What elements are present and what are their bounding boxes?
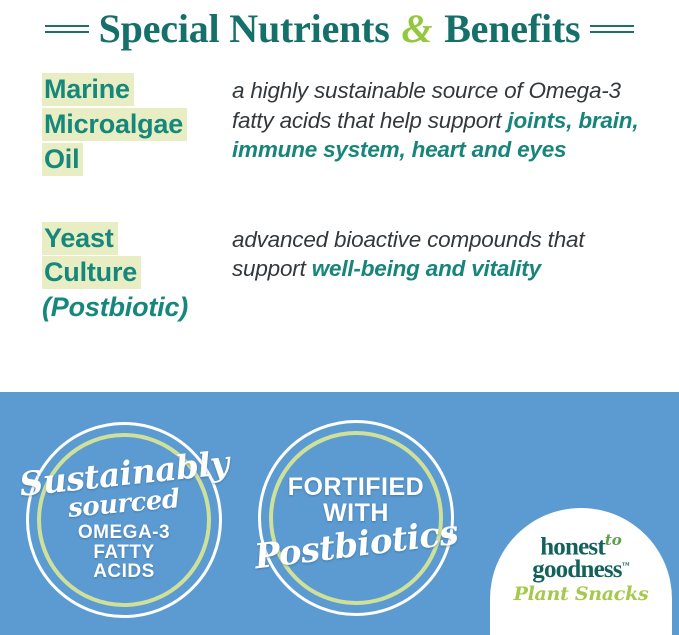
badge-line-4: FATTY — [93, 543, 154, 563]
nutrient-term-highlight: Oil — [42, 143, 83, 176]
nutrient-term-line: Yeast — [42, 223, 232, 255]
badge-panel: Sustainably sourced OMEGA-3 FATTY ACIDS … — [0, 392, 679, 635]
header-rule-left — [45, 24, 89, 35]
page-header: Special Nutrients & Benefits — [0, 0, 679, 58]
nutrient-description-yeast-culture: advanced bioactive compounds that suppor… — [232, 221, 651, 284]
brand-logo-tagline: Plant Snacks — [490, 584, 672, 606]
nutrient-list: Marine Microalgae Oil a highly sustainab… — [0, 72, 679, 327]
brand-logo-line-1: honestto — [490, 534, 672, 558]
brand-trademark-icon: ™ — [622, 561, 630, 570]
badge-text-group: Sustainably sourced OMEGA-3 FATTY ACIDS — [26, 422, 222, 618]
nutrient-term-marine-microalgae-oil: Marine Microalgae Oil — [42, 72, 232, 179]
nutrient-description-emphasis: well-being and vitality — [312, 256, 541, 281]
badge-line-1: FORTIFIED — [288, 474, 424, 500]
nutrient-row-yeast-culture: Yeast Culture (Postbiotic) advanced bioa… — [0, 221, 679, 328]
badge-fortified-with-postbiotics: FORTIFIED WITH Postbiotics — [258, 420, 454, 616]
nutrient-term-line: Marine — [42, 74, 232, 106]
brand-logo-inner: honestto goodness™ Plant Snacks — [490, 534, 672, 606]
nutrient-term-line: Microalgae — [42, 109, 232, 141]
badge-line-5: ACIDS — [93, 562, 155, 582]
header-rule-right — [590, 24, 634, 35]
page-title-ampersand: & — [399, 6, 434, 51]
nutrient-term-highlight: Microalgae — [42, 108, 187, 141]
badge-line-3: Postbiotics — [252, 516, 459, 575]
page-title-part1: Special Nutrients — [99, 6, 400, 51]
badge-text-group: FORTIFIED WITH Postbiotics — [258, 420, 454, 616]
nutrient-term-line: Culture — [42, 257, 232, 289]
brand-logo-line-2: goodness™ — [490, 558, 672, 583]
nutrient-term-highlight: Yeast — [42, 222, 118, 255]
badge-line-2: sourced — [67, 487, 180, 523]
badge-line-3: OMEGA-3 — [78, 523, 170, 543]
nutrient-row-marine-microalgae-oil: Marine Microalgae Oil a highly sustainab… — [0, 72, 679, 179]
nutrient-term-line: Oil — [42, 144, 232, 176]
brand-word-to: to — [605, 531, 622, 549]
nutrient-term-note-text: (Postbiotic) — [42, 291, 192, 324]
nutrient-description-marine-microalgae-oil: a highly sustainable source of Omega-3 f… — [232, 72, 651, 165]
nutrient-term-highlight: Marine — [42, 73, 134, 106]
brand-word-goodness: goodness — [532, 556, 621, 583]
nutrient-term-note: (Postbiotic) — [42, 292, 232, 324]
page-title: Special Nutrients & Benefits — [89, 9, 591, 49]
badge-sustainably-sourced: Sustainably sourced OMEGA-3 FATTY ACIDS — [26, 422, 222, 618]
nutrient-term-highlight: Culture — [42, 256, 141, 289]
brand-logo: honestto goodness™ Plant Snacks — [490, 508, 672, 635]
nutrient-term-yeast-culture: Yeast Culture (Postbiotic) — [42, 221, 232, 328]
page-title-part2: Benefits — [434, 6, 580, 51]
